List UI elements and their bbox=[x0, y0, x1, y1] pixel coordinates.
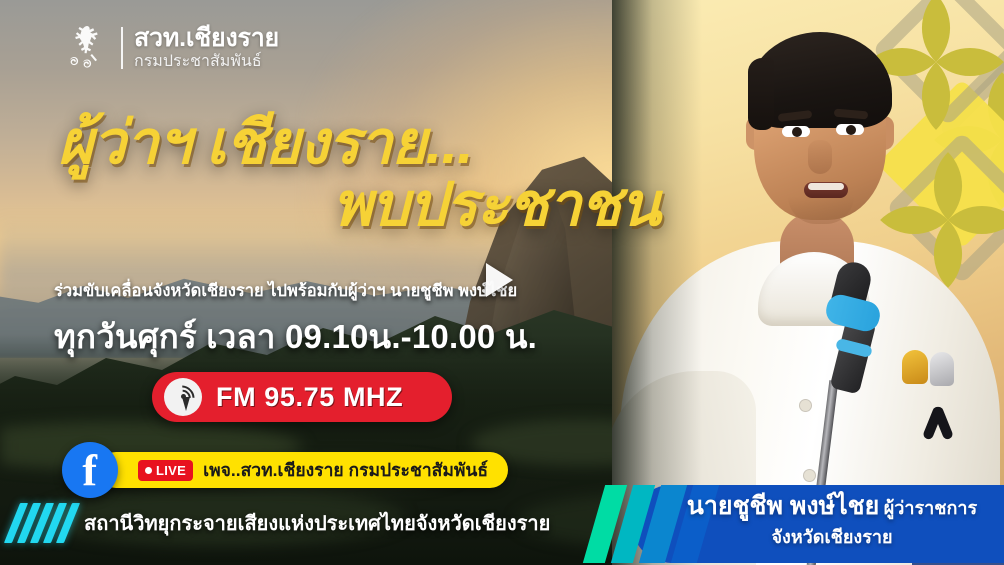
nameplate: นายชูชีพ พงษ์ไชย ผู้ว่าราชการจังหวัดเชีย… bbox=[586, 485, 1004, 563]
schedule-text: ทุกวันศุกร์ เวลา 09.10น.-10.00 น. bbox=[54, 310, 654, 363]
logo-department: กรมประชาสัมพันธ์ bbox=[134, 54, 279, 70]
radio-broadcast-icon bbox=[164, 378, 202, 416]
facebook-live-row[interactable]: f LIVE เพจ..สวท.เชียงราย กรมประชาสัมพันธ… bbox=[62, 442, 508, 498]
station-logo: สวท.เชียงราย กรมประชาสัมพันธ์ bbox=[62, 22, 279, 74]
headline-line-2: พบประชาชน bbox=[58, 174, 678, 236]
play-triangle-icon[interactable] bbox=[486, 263, 520, 299]
facebook-glyph: f bbox=[82, 452, 97, 490]
broadcast-promo-graphic: สวท.เชียงราย กรมประชาสัมพันธ์ ผู้ว่าฯ เช… bbox=[0, 0, 1004, 565]
portrait-edge-blend bbox=[612, 0, 702, 565]
page-title: ผู้ว่าฯ เชียงราย... พบประชาชน bbox=[58, 112, 678, 236]
frequency-label: FM 95.75 MHZ bbox=[216, 382, 403, 413]
facebook-page-pill: LIVE เพจ..สวท.เชียงราย กรมประชาสัมพันธ์ bbox=[98, 452, 508, 488]
royal-insignia-pin-icon bbox=[902, 350, 928, 384]
nameplate-name: นายชูชีพ พงษ์ไชย bbox=[687, 492, 880, 520]
station-full-name: สถานีวิทยุกระจายเสียงแห่งประเทศไทยจังหวั… bbox=[84, 507, 550, 539]
frequency-badge: FM 95.75 MHZ bbox=[152, 372, 452, 422]
status-badge: LIVE bbox=[138, 460, 193, 481]
portrait-panel bbox=[612, 0, 1004, 565]
tagline: ร่วมขับเคลื่อนจังหวัดเชียงราย ไปพร้อมกับ… bbox=[54, 278, 614, 304]
diagonal-stripes-icon bbox=[12, 503, 72, 543]
facebook-icon[interactable]: f bbox=[62, 442, 118, 498]
facebook-page-name: เพจ..สวท.เชียงราย กรมประชาสัมพันธ์ bbox=[203, 456, 488, 484]
thai-deity-emblem-icon bbox=[62, 22, 110, 74]
logo-station-name: สวท.เชียงราย bbox=[134, 26, 279, 52]
station-bar: สถานีวิทยุกระจายเสียงแห่งประเทศไทยจังหวั… bbox=[12, 503, 550, 543]
royal-insignia-pin-icon bbox=[930, 352, 954, 386]
live-label: LIVE bbox=[156, 463, 186, 478]
headline-line-1: ผู้ว่าฯ เชียงราย... bbox=[58, 109, 473, 176]
logo-divider bbox=[121, 27, 123, 69]
live-dot-icon bbox=[145, 467, 152, 474]
